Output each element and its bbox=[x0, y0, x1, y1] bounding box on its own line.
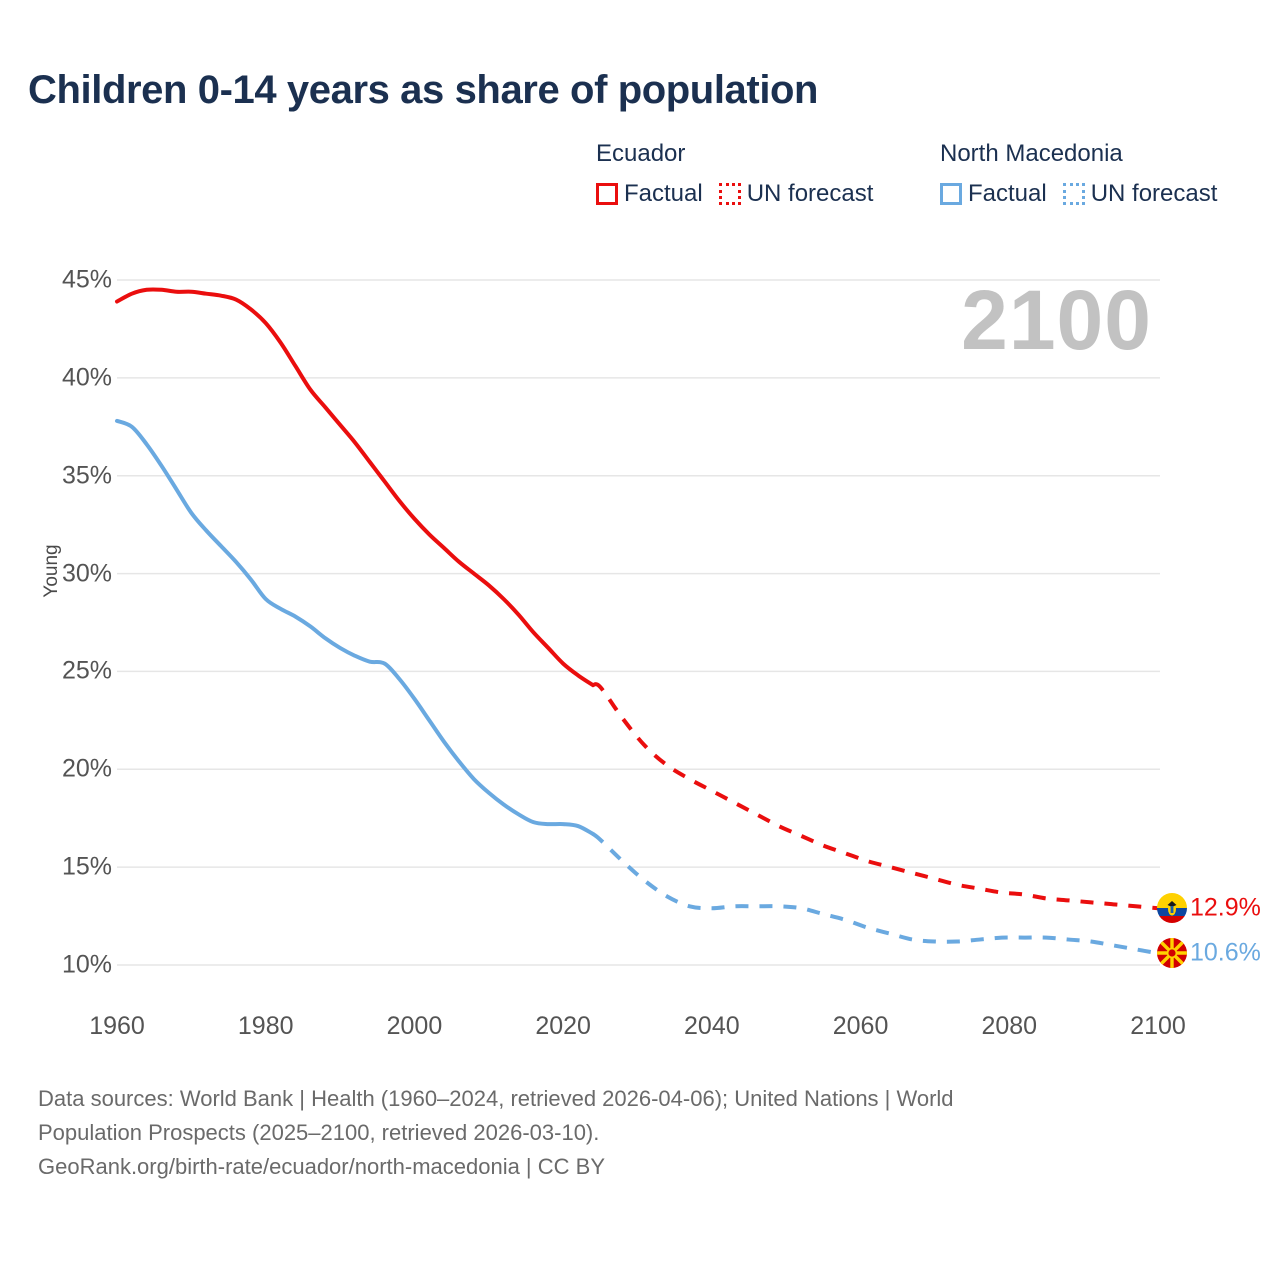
watermark-year: 2100 bbox=[961, 272, 1152, 369]
x-axis-tick-label: 2080 bbox=[981, 1012, 1037, 1041]
chart-footer: Data sources: World Bank | Health (1960–… bbox=[38, 1082, 1238, 1184]
y-axis-tick-label: 10% bbox=[2, 951, 112, 980]
footer-line-sources: Data sources: World Bank | Health (1960–… bbox=[38, 1082, 1238, 1116]
chart-page: Children 0-14 years as share of populati… bbox=[0, 0, 1280, 1280]
x-axis-tick-label: 1960 bbox=[89, 1012, 145, 1041]
footer-line-prospects: Population Prospects (2025–2100, retriev… bbox=[38, 1116, 1238, 1150]
y-axis-tick-label: 25% bbox=[2, 657, 112, 686]
x-axis-tick-label: 2060 bbox=[833, 1012, 889, 1041]
footer-line-attribution: GeoRank.org/birth-rate/ecuador/north-mac… bbox=[38, 1150, 1238, 1184]
y-axis-tick-label: 20% bbox=[2, 755, 112, 784]
north-macedonia-end-label: 10.6% bbox=[1190, 939, 1261, 968]
y-axis-tick-label: 15% bbox=[2, 853, 112, 882]
ecuador-end-label: 12.9% bbox=[1190, 894, 1261, 923]
x-axis-tick-label: 2040 bbox=[684, 1012, 740, 1041]
north-macedonia-flag-icon bbox=[1157, 938, 1187, 968]
y-axis-tick-label: 45% bbox=[2, 266, 112, 295]
y-axis-tick-label: 30% bbox=[2, 559, 112, 588]
x-axis-tick-label: 1980 bbox=[238, 1012, 294, 1041]
x-axis-tick-label: 2020 bbox=[535, 1012, 591, 1041]
x-axis-tick-label: 2000 bbox=[387, 1012, 443, 1041]
y-axis-tick-label: 40% bbox=[2, 363, 112, 392]
y-axis-tick-label: 35% bbox=[2, 461, 112, 490]
x-axis-tick-label: 2100 bbox=[1130, 1012, 1186, 1041]
ecuador-flag-icon bbox=[1157, 893, 1187, 923]
